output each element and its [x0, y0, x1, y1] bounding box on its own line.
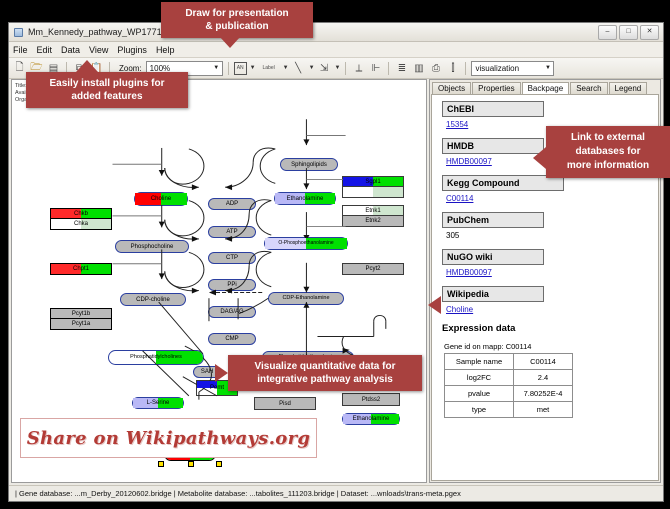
table-row: type met — [445, 402, 573, 418]
node-label: Chka — [74, 221, 88, 227]
cell-value: C00114 — [514, 354, 573, 370]
node-label: Chkb — [74, 211, 88, 217]
node-l-serine-left[interactable]: L-Serine — [132, 397, 184, 409]
tab-objects[interactable]: Objects — [432, 82, 471, 94]
share-banner: Share on Wikipathways.org — [20, 418, 317, 458]
node-label: Choline — [151, 196, 171, 202]
toolbar-separator — [388, 62, 389, 75]
node-label: PPi — [227, 282, 236, 288]
title-bar: Mm_Kennedy_pathway_WP1771_45176.gpml – □… — [9, 23, 663, 42]
callout-visualize: Visualize quantitative data for integrat… — [228, 355, 422, 391]
callout-draw-line2: & publication — [168, 20, 306, 33]
callout-draw-arrow-icon — [219, 36, 241, 48]
node-label: Chpt1 — [73, 266, 89, 272]
node-label: Pemt — [210, 385, 224, 391]
table-row: pvalue 7.80252E-4 — [445, 386, 573, 402]
db-link-wikipedia[interactable]: Choline — [446, 305, 658, 314]
node-chpt1[interactable]: Chpt1 — [50, 263, 112, 275]
node-label: L-Serine — [147, 400, 170, 406]
node-ethanolamine[interactable]: Ethanolamine — [274, 192, 336, 205]
callout-visualize-line2: integrative pathway analysis — [235, 373, 415, 386]
maximize-button[interactable]: □ — [619, 25, 638, 40]
app-icon — [13, 27, 24, 38]
callout-links-arrow-icon — [533, 147, 546, 169]
table-row: log2FC 2.4 — [445, 370, 573, 386]
node-label: Pcyt1b — [72, 311, 90, 317]
node-label: CDP-Ethanolamine — [282, 296, 329, 302]
toolbar-separator — [345, 62, 346, 75]
callout-visualize-line1: Visualize quantitative data for — [235, 360, 415, 373]
callout-links-line2: databases for — [553, 145, 663, 159]
node-label: Etnk1 — [365, 208, 380, 214]
label-tool-icon[interactable]: Label — [258, 61, 280, 76]
menu-item-plugins[interactable]: Plugins — [117, 45, 147, 55]
node-label: Ethanolamine — [353, 416, 390, 422]
chevron-down-icon[interactable]: ▼ — [211, 62, 222, 75]
node-label: Ethanolamine — [287, 196, 324, 202]
db-header-pubchem: PubChem — [442, 212, 544, 228]
window-buttons: – □ ✕ — [598, 25, 659, 40]
share-banner-text: Share on Wikipathways.org — [27, 428, 311, 449]
gene-id-line: Gene id on mapp: C00114 — [444, 342, 658, 351]
node-o-phosphoethanolamine[interactable]: O-Phosphoethanolamine — [264, 237, 348, 250]
menu-item-view[interactable]: View — [89, 45, 108, 55]
side-panel-tabs: Objects Properties Backpage Search Legen… — [430, 80, 660, 94]
tab-properties[interactable]: Properties — [472, 82, 520, 94]
db-header-hmdb: HMDB — [442, 138, 544, 154]
callout-draw: Draw for presentation & publication — [161, 2, 313, 38]
db-header-nugo-wiki: NuGO wiki — [442, 249, 544, 265]
node-label: ATP — [226, 229, 237, 235]
visualization-combobox[interactable]: visualization ▼ — [471, 61, 554, 76]
node-label: SAH — [201, 369, 213, 375]
callout-links-line1: Link to external — [553, 131, 663, 145]
cell-value: met — [514, 402, 573, 418]
new-file-icon[interactable]: 🗋 — [12, 61, 27, 76]
cell-value: 7.80252E-4 — [514, 386, 573, 402]
tab-search[interactable]: Search — [570, 82, 607, 94]
cell-key: log2FC — [445, 370, 514, 386]
node-label: Sgpl1 — [365, 179, 380, 185]
db-link-nugo-wiki[interactable]: HMDB00097 — [446, 268, 658, 277]
node-label: Sphingolipids — [291, 162, 327, 168]
node-label: Phosphatidylcholines — [130, 355, 182, 361]
db-link-kegg-compound[interactable]: C00114 — [446, 194, 658, 203]
db-header-wikipedia: Wikipedia — [442, 286, 544, 302]
minimize-button[interactable]: – — [598, 25, 617, 40]
menu-item-data[interactable]: Data — [61, 45, 80, 55]
node-label: DAG/AG — [220, 309, 243, 315]
order-icon[interactable]: ⫿ — [445, 61, 460, 76]
table-row: Sample name C00114 — [445, 354, 573, 370]
status-bar: | Gene database: ...m_Derby_20120602.bri… — [9, 485, 663, 501]
callout-plugins: Easily install plugins for added feature… — [26, 72, 188, 108]
toolbar-separator — [228, 62, 229, 75]
node-label: O-Phosphoethanolamine — [278, 241, 333, 246]
callout-draw-line1: Draw for presentation — [168, 7, 306, 20]
node-label: ADP — [226, 201, 238, 207]
expression-data-heading: Expression data — [442, 323, 658, 334]
print-icon[interactable]: ⎙ — [428, 61, 443, 76]
cell-key: Sample name — [445, 354, 514, 370]
cell-key: type — [445, 402, 514, 418]
callout-links-line3: more information — [553, 159, 663, 173]
interaction-tool-icon[interactable]: ⇲ — [317, 61, 332, 76]
expression-table: Sample name C00114 log2FC 2.4 pvalue 7.8… — [444, 353, 573, 418]
callout-links: Link to external databases for more info… — [546, 126, 670, 178]
callout-plugins-arrow-icon — [76, 60, 98, 72]
menu-bar: File Edit Data View Plugins Help — [9, 42, 663, 58]
text-tool-icon[interactable]: AN — [234, 62, 247, 75]
node-label: CMP — [225, 336, 238, 342]
db-value-pubchem: 305 — [446, 231, 658, 240]
menu-item-edit[interactable]: Edit — [37, 45, 53, 55]
callout-plugins-line2: added features — [33, 90, 181, 103]
cell-key: pvalue — [445, 386, 514, 402]
node-choline-top[interactable]: Choline — [134, 192, 188, 206]
visualization-value: visualization — [475, 64, 519, 73]
node-label: CDP-choline — [136, 297, 170, 303]
node-label: Ptdss2 — [362, 397, 380, 403]
chevron-down-icon[interactable]: ▼ — [542, 62, 553, 75]
callout-links-arrow-tip-icon — [428, 296, 441, 314]
toolbar-separator — [465, 62, 466, 75]
node-label: Pisd — [279, 401, 291, 407]
node-chkb[interactable]: Chkb — [50, 208, 112, 219]
menu-item-help[interactable]: Help — [156, 45, 175, 55]
chevron-down-icon[interactable]: ▼ — [309, 65, 315, 71]
node-label: Etnk2 — [365, 218, 380, 224]
callout-plugins-line1: Easily install plugins for — [33, 77, 181, 90]
status-text: | Gene database: ...m_Derby_20120602.bri… — [9, 489, 461, 498]
distribute-icon[interactable]: ▥ — [411, 61, 426, 76]
screenshot-root: Mm_Kennedy_pathway_WP1771_45176.gpml – □… — [0, 0, 670, 509]
chevron-down-icon[interactable]: ▼ — [250, 65, 256, 71]
align-bottom-icon[interactable]: ⟂ — [351, 61, 366, 76]
cell-value: 2.4 — [514, 370, 573, 386]
db-header-chebi: ChEBI — [442, 101, 544, 117]
node-sgpl1[interactable]: Sgpl1 — [342, 176, 404, 187]
menu-item-file[interactable]: File — [13, 45, 28, 55]
chevron-down-icon[interactable]: ▼ — [283, 65, 289, 71]
align-left-icon[interactable]: ⊩ — [368, 61, 383, 76]
stack-icon[interactable]: ≣ — [394, 61, 409, 76]
line-tool-icon[interactable]: ╲ — [291, 61, 306, 76]
node-label: CTP — [226, 255, 238, 261]
node-label: Pcyt1a — [72, 321, 90, 327]
chevron-down-icon[interactable]: ▼ — [335, 65, 341, 71]
node-label: Phosphocholine — [131, 244, 174, 250]
node-label: Pcyt2 — [365, 266, 380, 272]
callout-visualize-arrow-icon — [215, 364, 228, 382]
tab-legend[interactable]: Legend — [609, 82, 648, 94]
close-button[interactable]: ✕ — [640, 25, 659, 40]
node-ethanolamine-right[interactable]: Ethanolamine — [342, 413, 400, 425]
